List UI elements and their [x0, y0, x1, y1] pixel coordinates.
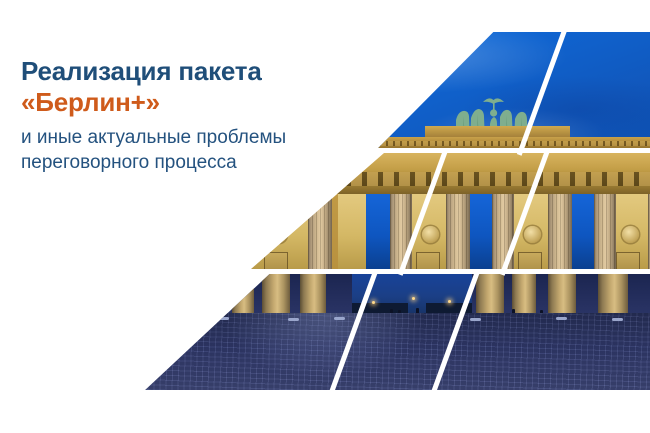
title-block: Реализация пакета «Берлин+» и иные актуа… — [21, 56, 361, 175]
wall-relief — [616, 252, 640, 270]
ground-uplight — [288, 318, 299, 321]
wall-relief — [416, 252, 440, 270]
pavement-light-pool — [224, 313, 422, 390]
gate-column — [446, 194, 470, 270]
gate-column-base — [62, 273, 88, 319]
page-title-line2: «Берлин+» — [21, 87, 361, 117]
ground-uplight — [334, 317, 345, 320]
statue-plinth — [425, 126, 570, 137]
page-subtitle: и иные актуальные проблемы переговорного… — [21, 125, 351, 176]
ground-uplight — [86, 317, 97, 320]
slide-canvas: Реализация пакета «Берлин+» и иные актуа… — [0, 0, 650, 433]
gate-column — [548, 194, 572, 270]
street-lamp — [448, 300, 451, 303]
ground-uplight — [612, 318, 623, 321]
wall-relief — [518, 252, 542, 270]
wall-medallion — [622, 226, 639, 243]
gate-column-base — [196, 273, 222, 319]
ground-uplight — [134, 318, 145, 321]
gate-column — [594, 194, 616, 270]
gate-wall-panel — [250, 194, 312, 270]
street-lamp — [372, 301, 375, 304]
collage-bottom-mask — [0, 390, 650, 433]
gate-column-base — [96, 273, 118, 319]
wall-medallion — [422, 226, 439, 243]
collage-band-sky — [330, 32, 650, 150]
ground-uplight — [470, 318, 481, 321]
gate-column-base — [120, 273, 146, 319]
collage-band-gutter — [0, 269, 650, 274]
wall-relief — [264, 252, 288, 270]
ground-uplight — [556, 317, 567, 320]
street-lamp — [412, 297, 415, 300]
collage-band-plaza — [0, 273, 650, 390]
gate-wall-panel — [338, 194, 366, 270]
gate-column — [308, 194, 332, 270]
wall-medallion — [524, 226, 541, 243]
gate-passage-shadow — [150, 273, 192, 319]
page-title-line1: Реализация пакета — [21, 56, 361, 86]
wall-medallion — [270, 226, 287, 243]
ground-uplight — [218, 317, 229, 320]
